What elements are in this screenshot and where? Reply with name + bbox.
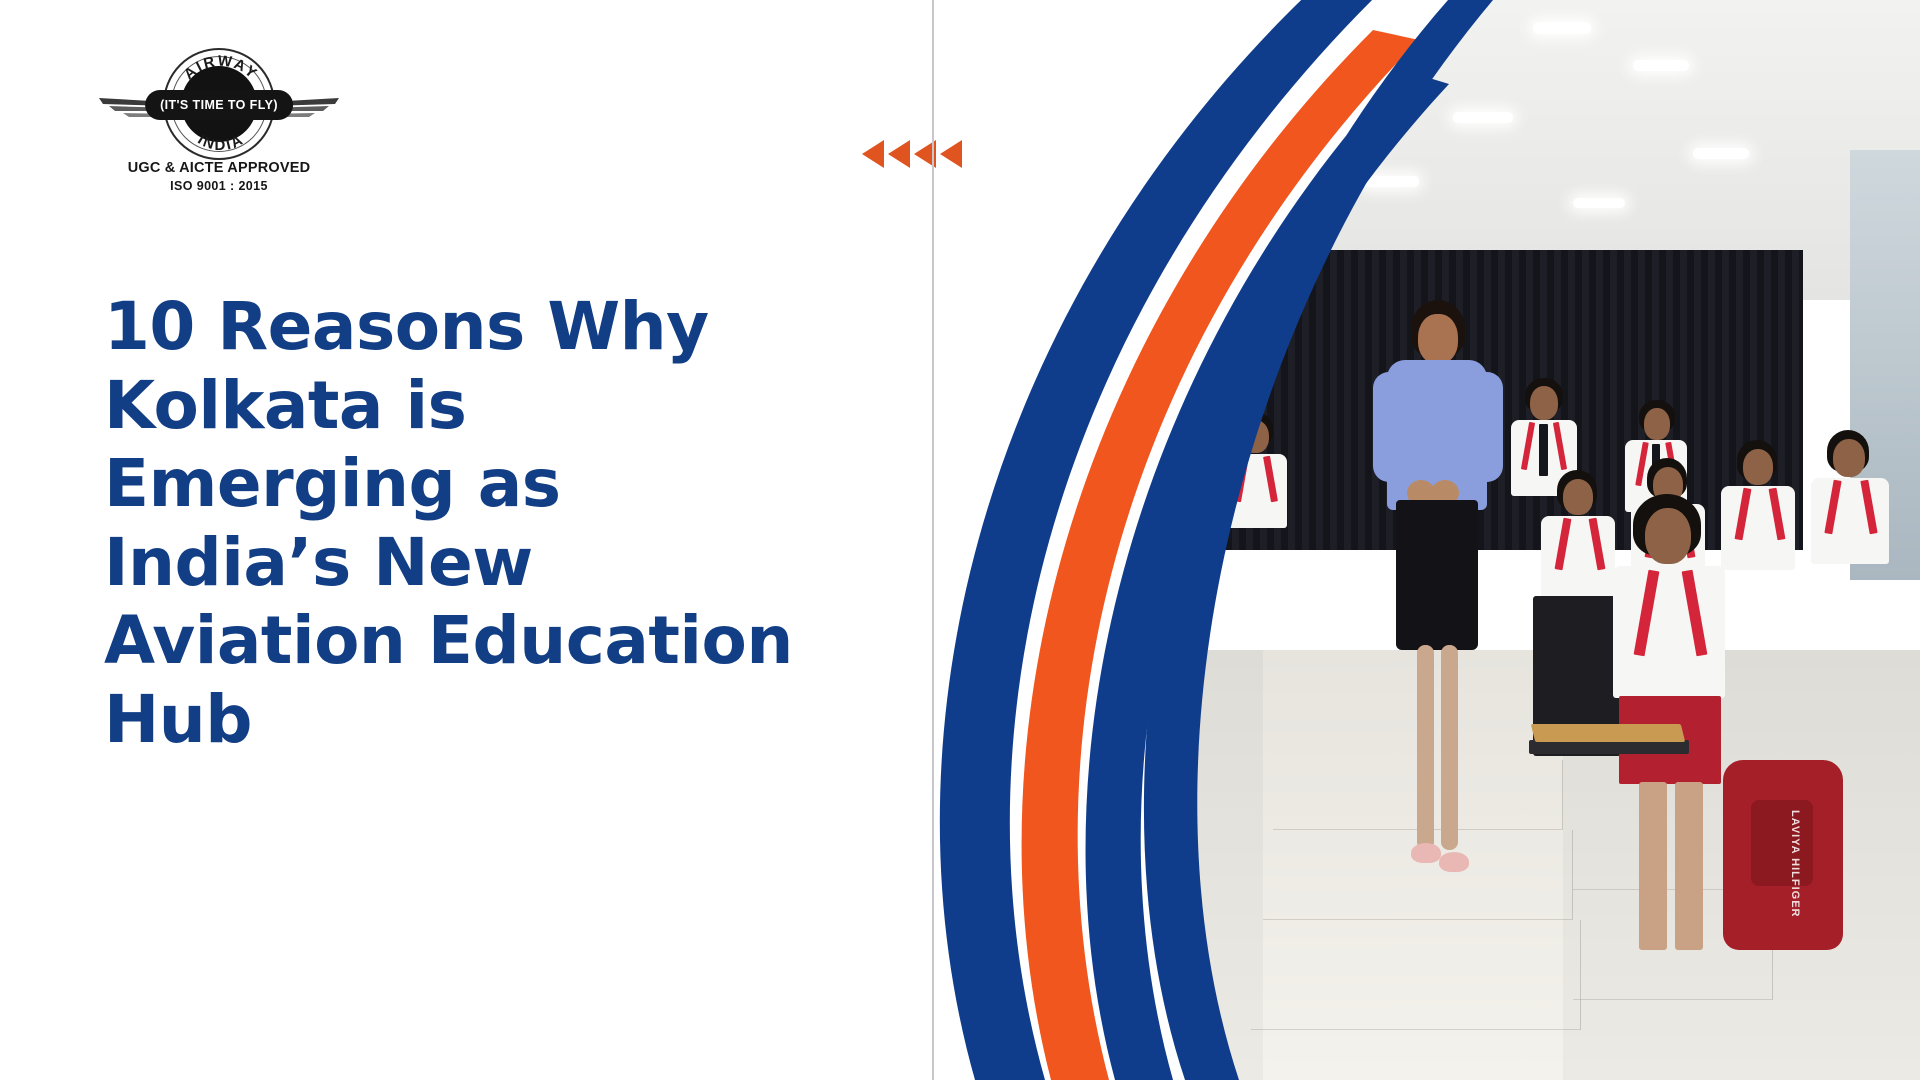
desk (1529, 740, 1689, 754)
brand-logo: AIRWAY INDIA (IT'S TIME TO FLY) UGC & AI… (104, 48, 334, 193)
instructor-shoe-right (1439, 852, 1469, 872)
logo-approval-line-2: ISO 9001 : 2015 (104, 179, 334, 193)
ceiling-light (1633, 60, 1689, 71)
backpack-panel (1751, 800, 1813, 886)
logo-arc-top-text: AIRWAY (181, 53, 262, 84)
instructor (1363, 300, 1513, 940)
ceiling-light (1363, 176, 1419, 187)
triangle-left-icon (888, 140, 910, 168)
right-image-panel: LAVIYA HILFIGER (933, 0, 1920, 1080)
instructor-leg-right (1441, 645, 1458, 850)
ceiling-light (1693, 148, 1749, 159)
instructor-face (1418, 314, 1458, 364)
logo-mark: AIRWAY INDIA (IT'S TIME TO FLY) (104, 48, 334, 160)
logo-tagline-ribbon: (IT'S TIME TO FLY) (147, 92, 291, 118)
instructor-skirt (1396, 500, 1478, 650)
ceiling-light (1453, 112, 1513, 123)
instructor-shoe-left (1411, 843, 1441, 863)
logo-approval-line-1: UGC & AICTE APPROVED (104, 160, 334, 176)
logo-tagline: (IT'S TIME TO FLY) (160, 98, 278, 112)
instructor-leg-left (1417, 645, 1434, 850)
backpack: LAVIYA HILFIGER (1723, 760, 1843, 950)
desk-surface (1531, 724, 1685, 742)
logo-arc-bottom-text: INDIA (195, 131, 248, 154)
ceiling-light (1073, 96, 1127, 107)
backpack-brand-label: LAVIYA HILFIGER (1789, 810, 1801, 918)
triangle-left-icon (862, 140, 884, 168)
left-content-panel: AIRWAY INDIA (IT'S TIME TO FLY) UGC & AI… (0, 0, 932, 1080)
photo-mask-svg: LAVIYA HILFIGER (933, 0, 1920, 1080)
ceiling-light (1533, 22, 1591, 34)
page-title: 10 Reasons Why Kolkata is Emerging as In… (104, 288, 804, 759)
slide-canvas: AIRWAY INDIA (IT'S TIME TO FLY) UGC & AI… (0, 0, 1920, 1080)
ceiling-light (1573, 198, 1625, 208)
